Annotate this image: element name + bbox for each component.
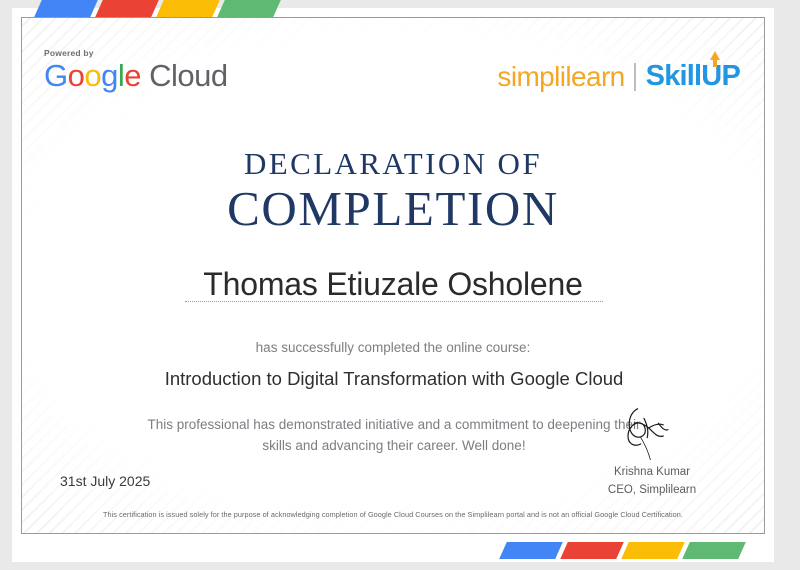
color-bar-yellow [156,0,220,17]
google-cloud-word: Cloud [141,58,228,93]
certificate-frame: Powered by Google Cloud simplilearn Skil… [21,17,765,534]
color-bar-red [560,542,624,559]
disclaimer-text: This certification is issued solely for … [22,510,764,519]
completion-subline: has successfully completed the online co… [22,340,764,355]
page-title-line-1: DECLARATION OF [22,146,764,182]
certificate-title: DECLARATION OF COMPLETION [22,146,764,236]
up-arrow-icon [710,51,720,60]
google-cloud-wordmark: Google Cloud [44,59,228,93]
color-bar-yellow [621,542,685,559]
simplilearn-wordmark: simplilearn [497,61,624,93]
google-letter-g2: g [101,58,118,93]
decorative-color-bars-top [38,0,277,17]
handwritten-signature-icon [588,404,716,460]
course-title: Introduction to Digital Transformation w… [152,366,636,391]
page-title-line-2: COMPLETION [22,182,764,236]
google-letter-g1: G [44,58,68,93]
recipient-underline [185,301,603,302]
signatory-role: CEO, Simplilearn [562,484,742,496]
color-bar-green [682,542,746,559]
decorative-color-bars-bottom [503,542,742,559]
color-bar-blue [34,0,98,17]
signatory-name: Krishna Kumar [562,466,742,478]
skillup-wordmark: SkillUP [646,60,740,93]
google-cloud-logo: Powered by Google Cloud [44,48,228,93]
google-letter-o2: o [84,58,101,93]
skillup-label: SkillUP [646,60,740,92]
logo-divider [634,63,636,91]
simplilearn-skillup-logo: simplilearn SkillUP [497,60,740,93]
powered-by-label: Powered by [44,48,228,58]
issue-date: 31st July 2025 [60,473,150,489]
certificate-stage: Powered by Google Cloud simplilearn Skil… [0,0,800,570]
recipient-name: Thomas Etiuzale Osholene [22,266,764,303]
color-bar-blue [499,542,563,559]
color-bar-red [95,0,159,17]
google-letter-o1: o [68,58,85,93]
color-bar-green [217,0,281,17]
google-letter-e: e [124,58,141,93]
signature-block: Krishna Kumar CEO, Simplilearn [562,404,742,496]
